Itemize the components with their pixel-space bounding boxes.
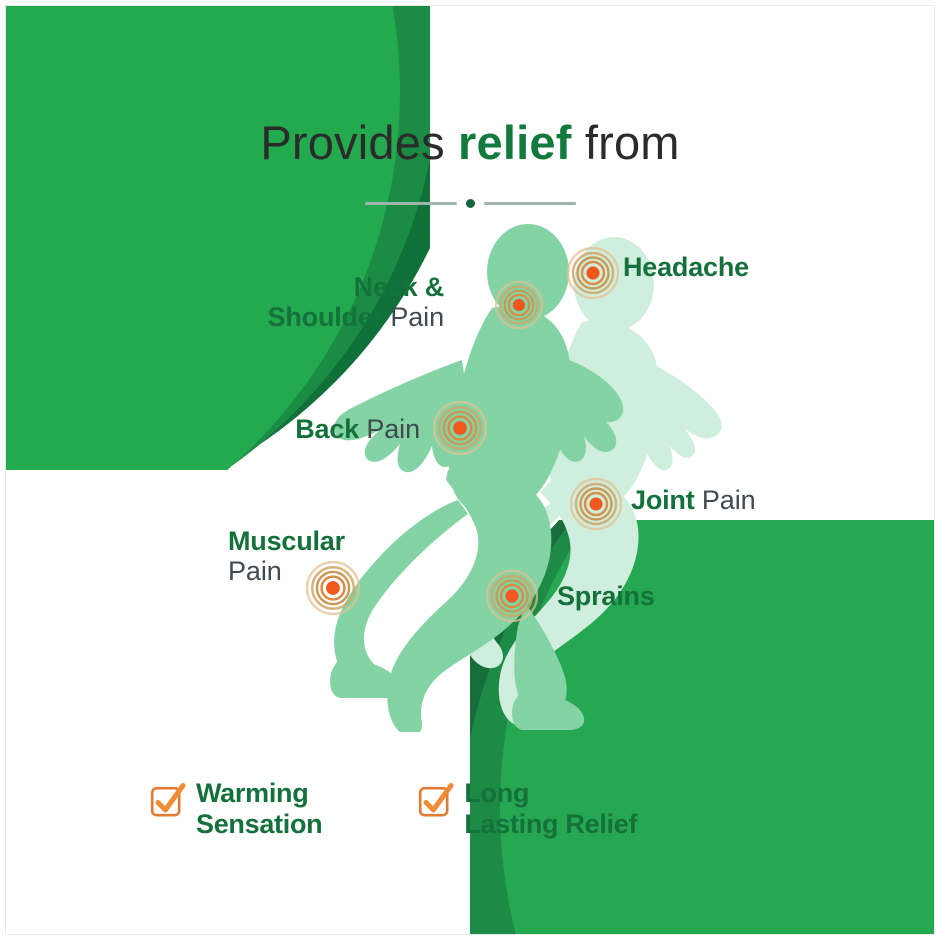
feature-label-line1: Long <box>464 778 637 809</box>
callout-keyword-line1: Neck & <box>354 272 444 302</box>
callout-keyword: Sprains <box>557 581 655 611</box>
callout-back-pain: Back Pain <box>240 414 420 444</box>
pain-marker-joint-pain <box>570 478 622 530</box>
pain-marker-neck-shoulder <box>495 281 543 329</box>
callout-suffix: Pain <box>695 485 756 515</box>
callout-headache: Headache <box>623 252 749 282</box>
pain-marker-headache <box>567 247 619 299</box>
feature-warming-sensation: Warming Sensation <box>150 778 322 868</box>
checkbox-checked-icon <box>418 784 452 818</box>
checkbox-checked-icon <box>150 784 184 818</box>
callout-keyword-line2: Shoulder <box>268 302 383 332</box>
callout-neck-shoulder: Neck & Shoulder Pain <box>236 272 444 332</box>
feature-long-lasting-relief: Long Lasting Relief <box>418 778 637 868</box>
feature-label-line1: Warming <box>196 778 322 809</box>
product-benefit-poster: Provides relief from <box>0 0 940 940</box>
feature-label: Long Lasting Relief <box>464 778 637 840</box>
callout-keyword: Joint <box>631 485 695 515</box>
callout-keyword: Back <box>295 414 359 444</box>
callout-sprains: Sprains <box>557 581 655 611</box>
title-text-after: from <box>572 116 680 169</box>
page-title: Provides relief from <box>0 118 940 167</box>
callout-keyword: Headache <box>623 252 749 282</box>
callout-muscular-pain: Muscular Pain <box>228 526 345 586</box>
callout-suffix: Pain <box>383 302 444 332</box>
divider-dot <box>466 199 475 208</box>
callout-suffix: Pain <box>359 414 420 444</box>
divider-rule-right <box>484 202 576 205</box>
pain-marker-sprains <box>486 570 538 622</box>
pain-marker-back-pain <box>433 401 487 455</box>
title-text-before: Provides <box>260 116 458 169</box>
feature-badge-list: Warming Sensation Long Lasting Relief <box>150 778 810 868</box>
feature-label-line2: Sensation <box>196 809 322 840</box>
callout-joint-pain: Joint Pain <box>631 485 756 515</box>
callout-keyword-line2: Pain <box>228 556 282 586</box>
feature-label: Warming Sensation <box>196 778 322 840</box>
title-text-highlight: relief <box>458 116 572 169</box>
title-divider <box>0 196 940 210</box>
callout-keyword-line1: Muscular <box>228 526 345 556</box>
divider-rule-left <box>365 202 457 205</box>
feature-label-line2: Lasting Relief <box>464 809 637 840</box>
